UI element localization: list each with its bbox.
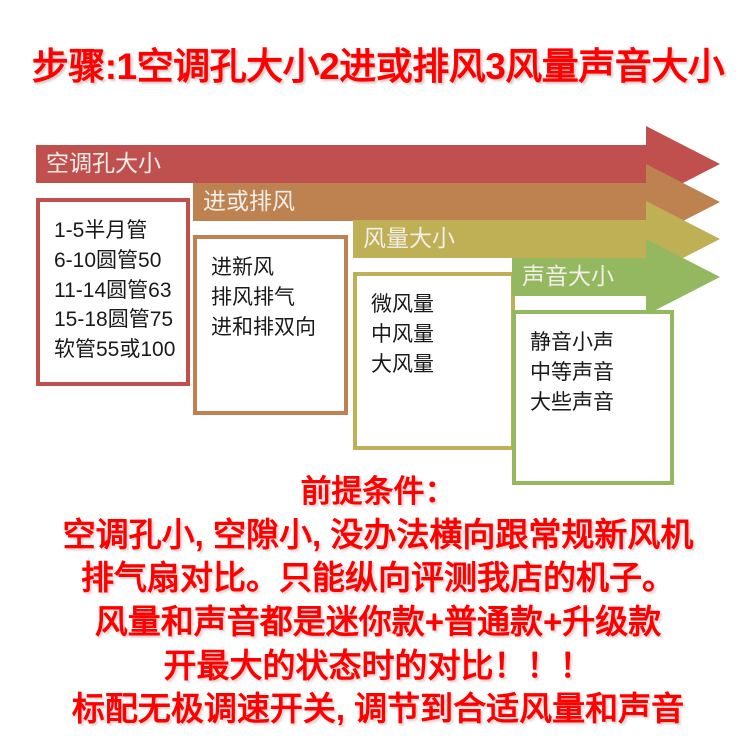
list-item: 进新风 [211, 253, 344, 283]
stage-2-label: 进或排风 [203, 190, 295, 213]
list-item: 中等声音 [530, 358, 670, 388]
list-item: 6-10圆管50 [54, 246, 186, 276]
note-line: 开最大的状态时的对比！！！ [0, 644, 756, 688]
stage-2-items-box: 进新风 排风排气 进和排双向 [193, 235, 348, 415]
note-line: 空调孔小, 空隙小, 没办法横向跟常规新风机 [0, 513, 756, 557]
note-line: 风量和声音都是迷你款+普通款+升级款 [0, 600, 756, 644]
list-item: 11-14圆管63 [54, 276, 186, 306]
bottom-note-block: 前提条件： 空调孔小, 空隙小, 没办法横向跟常规新风机 排气扇对比。只能纵向评… [0, 472, 756, 731]
note-line-heading: 前提条件： [0, 472, 756, 513]
list-item: 软管55或100 [54, 335, 186, 365]
process-stage-4: 声音大小 [512, 239, 720, 315]
process-diagram: 空调孔大小 1-5半月管 6-10圆管50 11-14圆管63 15-18圆管7… [0, 0, 756, 500]
stage-4-items-box: 静音小声 中等声音 大些声音 [512, 310, 674, 485]
note-line: 排气扇对比。只能纵向评测我店的机子。 [0, 556, 756, 600]
list-item: 1-5半月管 [54, 216, 186, 246]
list-item: 静音小声 [530, 328, 670, 358]
note-line: 标配无极调速开关, 调节到合适风量和声音 [0, 687, 756, 731]
stage-3-items-box: 微风量 中风量 大风量 [353, 272, 515, 450]
list-item: 中风量 [371, 320, 511, 350]
stage-1-items-box: 1-5半月管 6-10圆管50 11-14圆管63 15-18圆管75 软管55… [36, 198, 190, 386]
stage-1-label: 空调孔大小 [46, 152, 161, 175]
stage-4-label: 声音大小 [522, 265, 614, 288]
stage-2-item-list: 进新风 排风排气 进和排双向 [197, 239, 344, 342]
list-item: 进和排双向 [211, 313, 344, 343]
list-item: 微风量 [371, 290, 511, 320]
stage-3-item-list: 微风量 中风量 大风量 [357, 276, 511, 379]
stage-4-item-list: 静音小声 中等声音 大些声音 [516, 314, 670, 417]
list-item: 大些声音 [530, 388, 670, 418]
stage-1-item-list: 1-5半月管 6-10圆管50 11-14圆管63 15-18圆管75 软管55… [40, 202, 186, 365]
list-item: 排风排气 [211, 283, 344, 313]
list-item: 大风量 [371, 350, 511, 380]
stage-3-label: 风量大小 [363, 227, 455, 250]
list-item: 15-18圆管75 [54, 305, 186, 335]
